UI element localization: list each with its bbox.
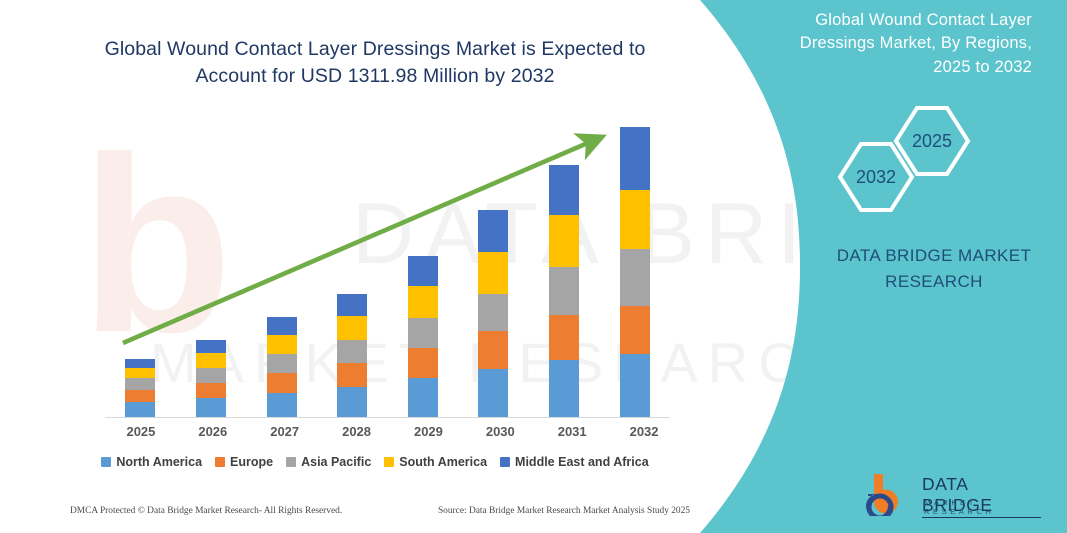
bar-segment <box>549 315 579 360</box>
legend-label: Middle East and Africa <box>515 455 649 469</box>
legend-item[interactable]: Middle East and Africa <box>500 455 649 469</box>
legend-label: South America <box>399 455 487 469</box>
bar-segment <box>337 316 367 340</box>
bar-segment <box>478 369 508 417</box>
panel-title: Global Wound Contact Layer Dressings Mar… <box>762 9 1032 79</box>
x-axis-line <box>105 417 670 418</box>
bar-2032 <box>620 127 650 417</box>
bar-segment <box>125 368 155 378</box>
legend-item[interactable]: North America <box>101 455 202 469</box>
bar-segment <box>408 256 438 285</box>
legend-label: Europe <box>230 455 273 469</box>
footer-source: Source: Data Bridge Market Research Mark… <box>438 506 690 516</box>
x-axis-labels: 20252026202720282029203020312032 <box>105 424 680 439</box>
bar-segment <box>549 165 579 215</box>
bar-segment <box>408 378 438 417</box>
bar-segment <box>478 210 508 252</box>
bar-2027 <box>267 317 297 417</box>
logo-tagline: MARKET RESEARCH <box>924 498 1041 516</box>
bar-segment <box>196 368 226 383</box>
legend-swatch-icon <box>384 457 394 467</box>
bar-segment <box>267 393 297 417</box>
legend-swatch-icon <box>101 457 111 467</box>
bar-segment <box>408 318 438 348</box>
bar-segment <box>196 340 226 354</box>
bar-segment <box>620 190 650 249</box>
legend-label: North America <box>116 455 202 469</box>
bar-segment <box>196 353 226 368</box>
x-axis-label-2031: 2031 <box>545 424 599 439</box>
x-axis-label-2025: 2025 <box>114 424 168 439</box>
bar-2030 <box>478 210 508 417</box>
bar-segment <box>125 402 155 417</box>
x-axis-label-2029: 2029 <box>401 424 455 439</box>
bar-segment <box>196 383 226 399</box>
legend-swatch-icon <box>500 457 510 467</box>
hexagon-badge-2032-label: 2032 <box>856 167 896 188</box>
x-axis-label-2027: 2027 <box>258 424 312 439</box>
legend-swatch-icon <box>215 457 225 467</box>
chart-legend: North AmericaEuropeAsia PacificSouth Ame… <box>70 455 680 469</box>
bar-2026 <box>196 340 226 417</box>
bar-segment <box>337 294 367 316</box>
bar-segment <box>125 378 155 389</box>
page-title: Global Wound Contact Layer Dressings Mar… <box>70 36 680 90</box>
x-axis-label-2032: 2032 <box>617 424 671 439</box>
bar-segment <box>478 294 508 332</box>
bar-segment <box>267 354 297 373</box>
brand-name: DATA BRIDGE MARKET RESEARCH <box>800 243 1067 294</box>
stacked-bar-chart <box>70 100 680 418</box>
bar-segment <box>267 335 297 355</box>
bar-segment <box>408 348 438 378</box>
bar-segment <box>267 373 297 393</box>
bar-2031 <box>549 165 579 417</box>
bar-segment <box>549 360 579 417</box>
legend-item[interactable]: Europe <box>215 455 273 469</box>
bar-segment <box>337 387 367 417</box>
bar-segment <box>337 363 367 387</box>
bar-segment <box>620 127 650 190</box>
bar-segment <box>620 354 650 417</box>
bar-2025 <box>125 359 155 417</box>
company-logo: DATA BRIDGE MARKET RESEARCH <box>866 470 1041 518</box>
bar-segment <box>620 306 650 354</box>
x-axis-label-2030: 2030 <box>473 424 527 439</box>
legend-swatch-icon <box>286 457 296 467</box>
bar-segment <box>408 286 438 318</box>
bar-group <box>105 100 670 417</box>
bar-2029 <box>408 256 438 417</box>
infographic-canvas: b DATA BRIDGE MARKET RESEARCH Global Wou… <box>0 0 1067 533</box>
bar-2028 <box>337 294 367 417</box>
hexagon-badge-2032: 2032 <box>837 141 915 213</box>
footer-copyright: DMCA Protected © Data Bridge Market Rese… <box>70 506 342 516</box>
bar-segment <box>478 331 508 369</box>
footer: DMCA Protected © Data Bridge Market Rese… <box>70 506 690 516</box>
legend-label: Asia Pacific <box>301 455 371 469</box>
bar-segment <box>125 359 155 368</box>
bar-segment <box>549 267 579 315</box>
legend-item[interactable]: Asia Pacific <box>286 455 371 469</box>
bar-segment <box>549 215 579 267</box>
bar-segment <box>478 252 508 294</box>
bar-segment <box>196 398 226 417</box>
data-bridge-logo-icon <box>866 472 916 516</box>
x-axis-label-2026: 2026 <box>186 424 240 439</box>
hexagon-badge-2025-label: 2025 <box>912 131 952 152</box>
bar-segment <box>267 317 297 335</box>
bar-segment <box>620 249 650 306</box>
x-axis-label-2028: 2028 <box>330 424 384 439</box>
legend-item[interactable]: South America <box>384 455 487 469</box>
bar-segment <box>125 390 155 403</box>
bar-segment <box>337 340 367 363</box>
